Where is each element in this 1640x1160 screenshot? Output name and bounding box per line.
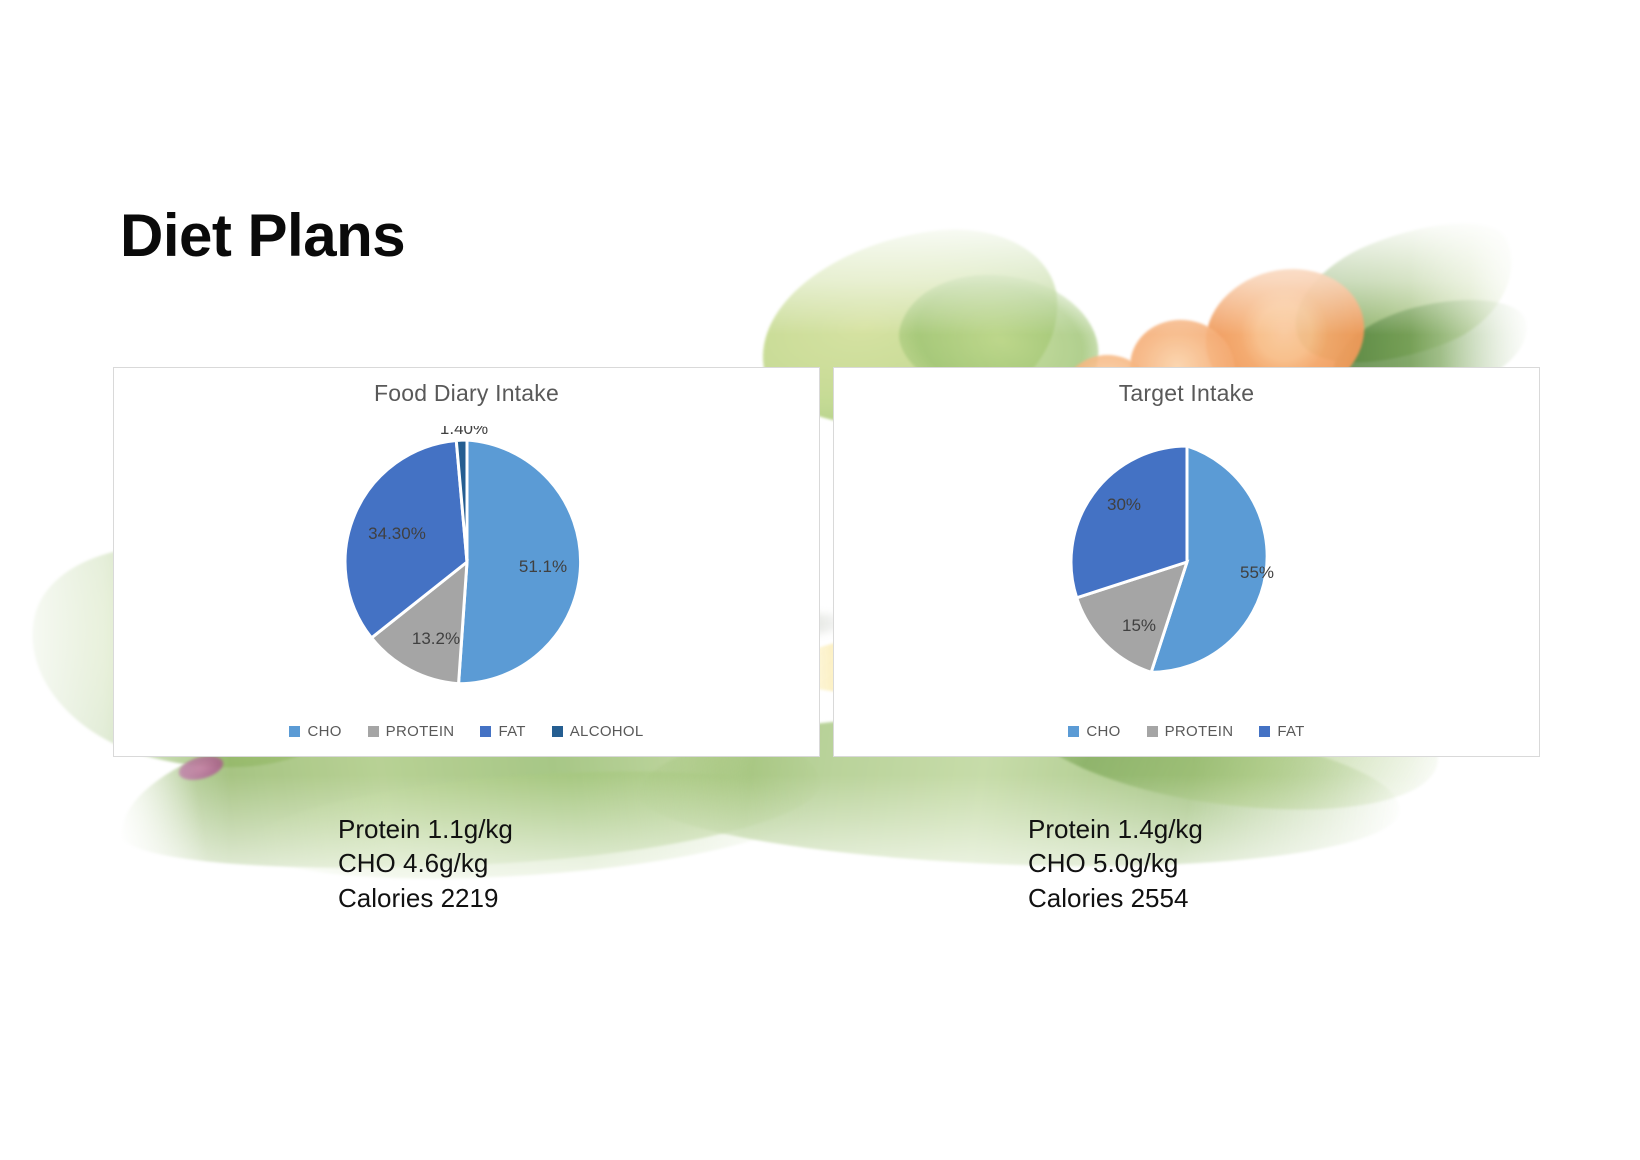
green-beans-shape-3 bbox=[247, 756, 813, 895]
pie-label-protein: 13.2% bbox=[411, 629, 459, 648]
legend-item-protein[interactable]: PROTEIN bbox=[1147, 723, 1234, 740]
stats-protein-food-diary: Protein 1.1g/kg bbox=[338, 812, 513, 846]
stats-block-food-diary: Protein 1.1g/kg CHO 4.6g/kg Calories 221… bbox=[338, 812, 513, 915]
legend-swatch-cho-icon bbox=[1068, 726, 1079, 737]
legend-target: CHO PROTEIN FAT bbox=[834, 723, 1539, 740]
legend-label-fat: FAT bbox=[1277, 723, 1304, 740]
legend-label-protein: PROTEIN bbox=[1165, 723, 1234, 740]
legend-label-cho: CHO bbox=[307, 723, 341, 740]
legend-label-protein: PROTEIN bbox=[386, 723, 455, 740]
legend-item-cho[interactable]: CHO bbox=[289, 723, 341, 740]
legend-item-cho[interactable]: CHO bbox=[1068, 723, 1120, 740]
pie-label-alcohol: 1.40% bbox=[439, 426, 487, 438]
legend-item-alcohol[interactable]: ALCOHOL bbox=[552, 723, 644, 740]
stats-cho-food-diary: CHO 4.6g/kg bbox=[338, 846, 513, 880]
legend-label-alcohol: ALCOHOL bbox=[570, 723, 644, 740]
legend-label-cho: CHO bbox=[1086, 723, 1120, 740]
legend-item-fat[interactable]: FAT bbox=[480, 723, 525, 740]
legend-swatch-fat-icon bbox=[480, 726, 491, 737]
stats-cho-target: CHO 5.0g/kg bbox=[1028, 846, 1203, 880]
pie-chart-target[interactable]: 55% 15% 30% bbox=[834, 426, 1539, 694]
pie-chart-food-diary[interactable]: 51.1% 13.2% 34.30% 1.40% bbox=[114, 426, 819, 694]
page-title: Diet Plans bbox=[120, 203, 405, 269]
legend-swatch-protein-icon bbox=[368, 726, 379, 737]
legend-label-fat: FAT bbox=[498, 723, 525, 740]
photo-fade-bottom bbox=[0, 775, 1640, 975]
pie-label-fat: 30% bbox=[1106, 495, 1140, 514]
legend-swatch-alcohol-icon bbox=[552, 726, 563, 737]
legend-swatch-cho-icon bbox=[289, 726, 300, 737]
legend-item-protein[interactable]: PROTEIN bbox=[368, 723, 455, 740]
pie-label-fat: 34.30% bbox=[368, 524, 426, 543]
chart-title-food-diary: Food Diary Intake bbox=[114, 380, 819, 407]
stats-calories-target: Calories 2554 bbox=[1028, 881, 1203, 915]
stats-protein-target: Protein 1.4g/kg bbox=[1028, 812, 1203, 846]
legend-swatch-fat-icon bbox=[1259, 726, 1270, 737]
pie-label-protein: 15% bbox=[1121, 616, 1155, 635]
stats-block-target: Protein 1.4g/kg CHO 5.0g/kg Calories 255… bbox=[1028, 812, 1203, 915]
legend-swatch-protein-icon bbox=[1147, 726, 1158, 737]
chart-panel-target[interactable]: Target Intake 55% 15% 30% CHO PROTEIN bbox=[833, 367, 1540, 757]
legend-item-fat[interactable]: FAT bbox=[1259, 723, 1304, 740]
pie-label-cho: 51.1% bbox=[518, 557, 566, 576]
stats-calories-food-diary: Calories 2219 bbox=[338, 881, 513, 915]
chart-panel-food-diary[interactable]: Food Diary Intake 51.1% 13.2% 34.30% 1.4… bbox=[113, 367, 820, 757]
chart-title-target: Target Intake bbox=[834, 380, 1539, 407]
pie-svg-food-diary: 51.1% 13.2% 34.30% 1.40% bbox=[217, 426, 717, 694]
pie-svg-target: 55% 15% 30% bbox=[937, 426, 1437, 694]
pie-label-cho: 55% bbox=[1239, 563, 1273, 582]
legend-food-diary: CHO PROTEIN FAT ALCOHOL bbox=[114, 723, 819, 740]
